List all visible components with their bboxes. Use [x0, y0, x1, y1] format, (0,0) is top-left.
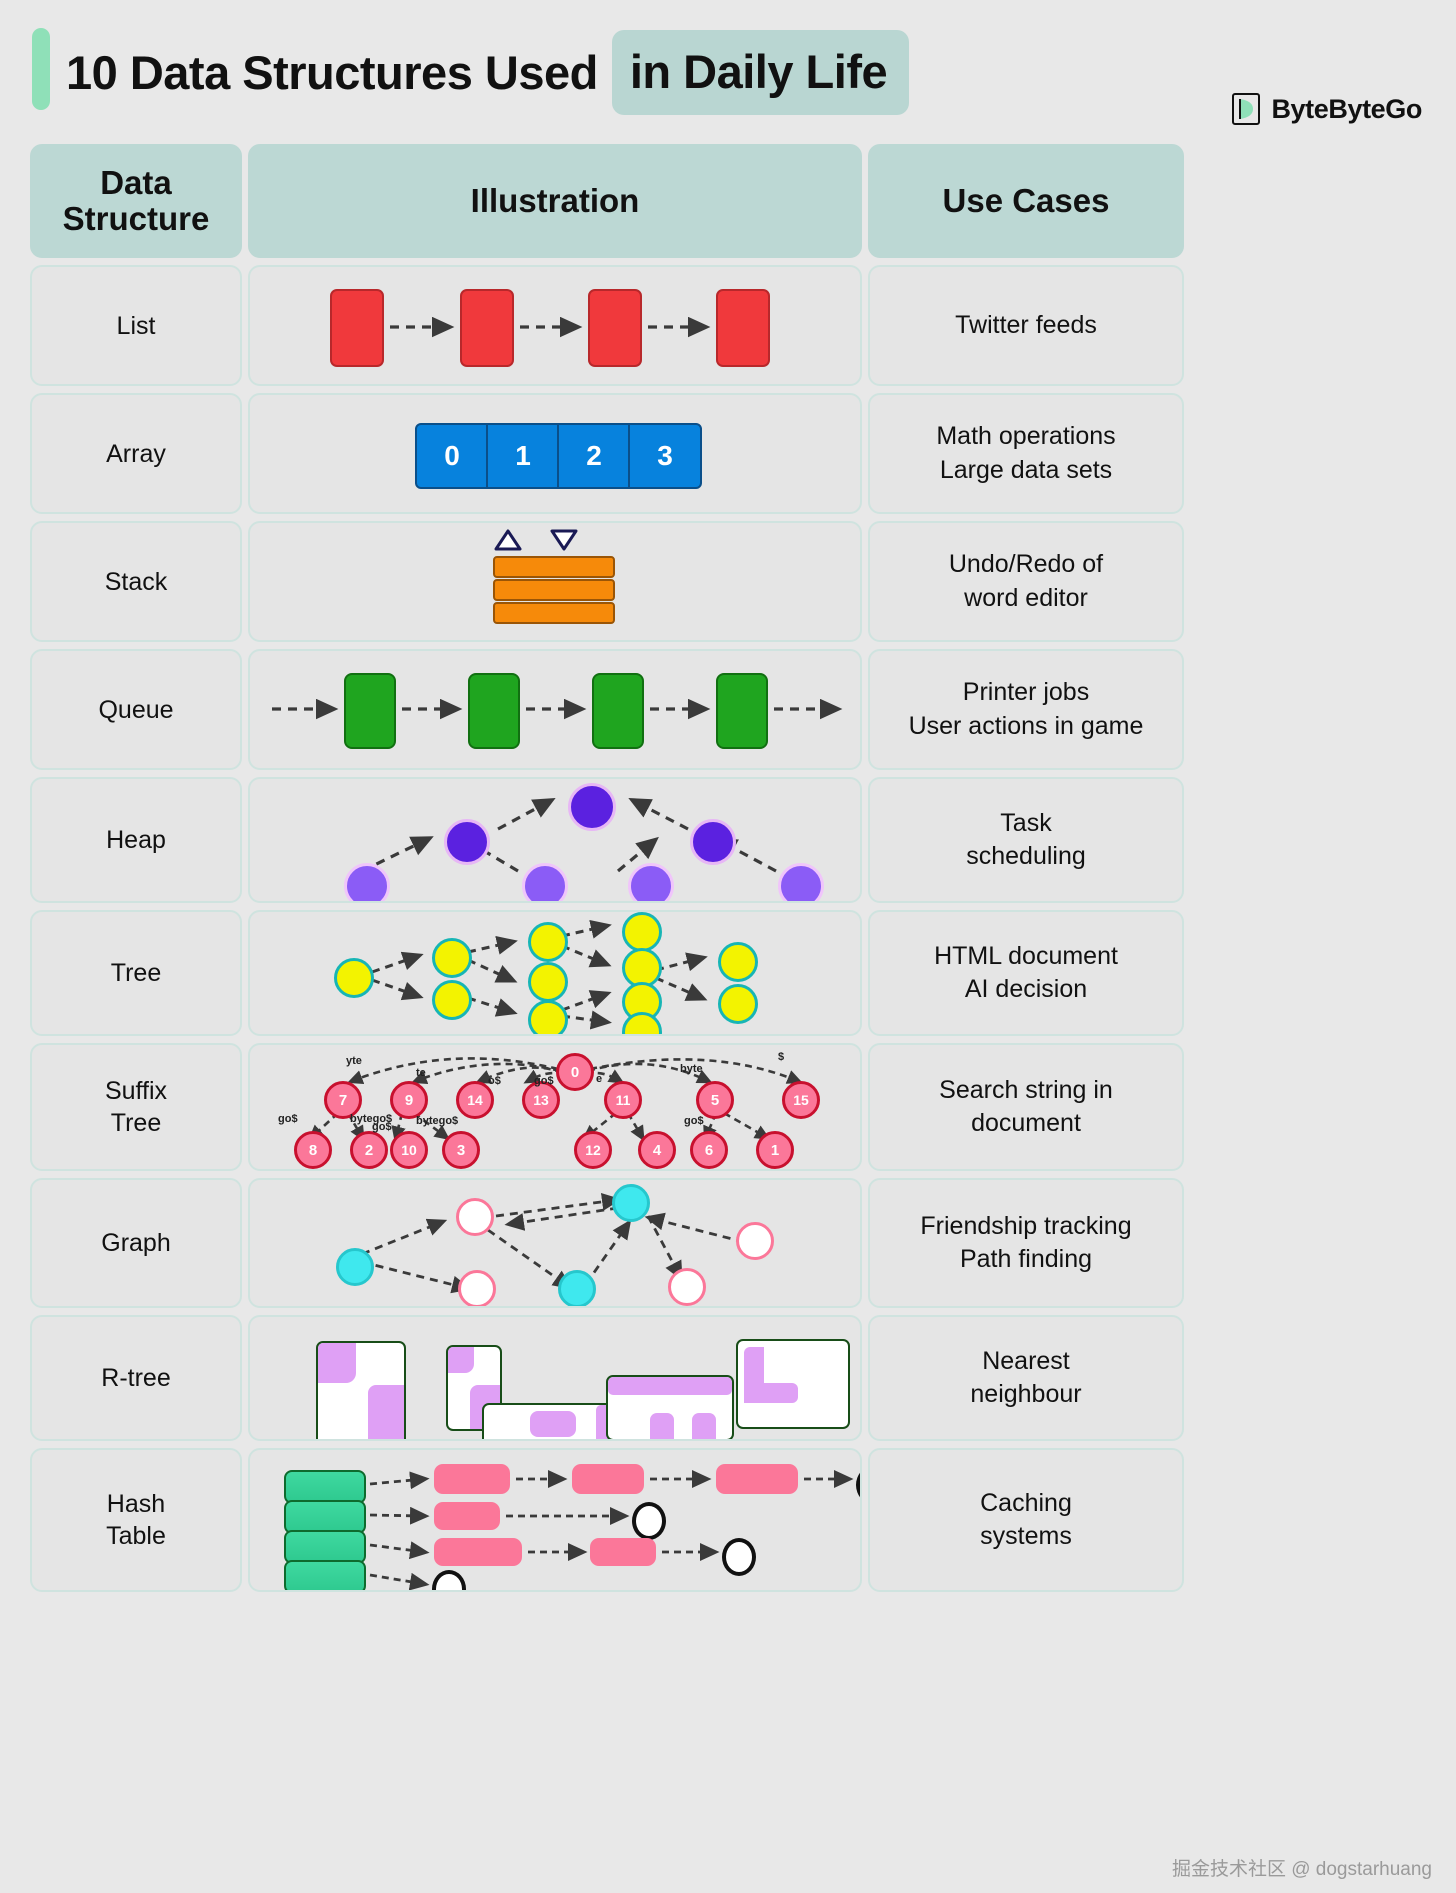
column-header-use-cases: Use Cases [868, 144, 1184, 258]
row-label-heap: Heap [30, 777, 242, 903]
table-row-list: List Twitter [30, 265, 1176, 386]
graph-node [336, 1248, 374, 1286]
list-arrows [250, 267, 860, 384]
table-row-hash-table: Hash Table [30, 1448, 1176, 1592]
suffix-edge-label: go$ [684, 1115, 704, 1127]
suffix-node: 4 [638, 1131, 676, 1169]
graph-node [668, 1268, 706, 1306]
page-title-highlight: in Daily Life [612, 30, 909, 115]
suffix-edge-label: byte [680, 1063, 703, 1075]
use-case-queue: Printer jobs User actions in game [868, 649, 1184, 770]
watermark-text: 掘金技术社区 @ dogstarhuang [1172, 1854, 1432, 1881]
suffix-node: 3 [442, 1131, 480, 1169]
illustration-graph [248, 1178, 862, 1308]
stack-layer [493, 579, 615, 601]
suffix-node: 10 [390, 1131, 428, 1169]
row-label-array: Array [30, 393, 242, 514]
suffix-node: 6 [690, 1131, 728, 1169]
r-tree-box [482, 1403, 626, 1441]
tree-node [528, 962, 568, 1002]
suffix-edge-label: e [596, 1073, 602, 1085]
page-title: 10 Data Structures Used in Daily Life [66, 30, 909, 115]
array-cell: 0 [415, 423, 489, 489]
graph-node [612, 1184, 650, 1222]
use-case-graph: Friendship tracking Path finding [868, 1178, 1184, 1308]
page-title-main: 10 Data Structures Used [66, 49, 612, 96]
illustration-heap [248, 777, 862, 903]
illustration-array: 0 1 2 3 [248, 393, 862, 514]
array-cell: 2 [557, 423, 631, 489]
suffix-edge-label: go$ [278, 1113, 298, 1125]
suffix-edge-label: go$ [534, 1075, 554, 1087]
r-tree-box [606, 1375, 734, 1441]
title-accent-bar [32, 28, 50, 110]
r-tree-box [316, 1341, 406, 1441]
row-label-graph: Graph [30, 1178, 242, 1308]
use-case-r-tree: Nearest neighbour [868, 1315, 1184, 1441]
heap-node-root [568, 783, 616, 831]
heap-node [344, 863, 390, 903]
row-label-queue: Queue [30, 649, 242, 770]
suffix-node: 1 [756, 1131, 794, 1169]
suffix-edge-label: bytego$ [416, 1115, 458, 1127]
suffix-node: 2 [350, 1131, 388, 1169]
use-case-array: Math operations Large data sets [868, 393, 1184, 514]
use-case-hash-table: Caching systems [868, 1448, 1184, 1592]
graph-node [456, 1198, 494, 1236]
row-label-tree: Tree [30, 910, 242, 1036]
table-row-suffix-tree: Suffix Tree [30, 1043, 1176, 1171]
row-label-hash-table: Hash Table [30, 1448, 242, 1592]
table-row-array: Array 0 1 2 3 Math operations Large data… [30, 393, 1176, 514]
array-cell: 3 [628, 423, 702, 489]
suffix-edge-label: o$ [488, 1075, 501, 1087]
illustration-queue [248, 649, 862, 770]
heap-node [628, 863, 674, 903]
use-case-stack: Undo/Redo of word editor [868, 521, 1184, 642]
table-row-graph: Graph [30, 1178, 1176, 1308]
hash-arrows [250, 1450, 860, 1590]
illustration-tree [248, 910, 862, 1036]
heap-node [522, 863, 568, 903]
array-cell: 1 [486, 423, 560, 489]
column-header-illustration: Illustration [248, 144, 862, 258]
suffix-edge-label: go$ [372, 1121, 392, 1133]
suffix-node: 5 [696, 1081, 734, 1119]
use-case-list: Twitter feeds [868, 265, 1184, 386]
graph-node [736, 1222, 774, 1260]
illustration-list [248, 265, 862, 386]
table-header-row: Data Structure Illustration Use Cases [30, 144, 1176, 258]
tree-node [718, 942, 758, 982]
stack-layer [493, 556, 615, 578]
use-case-tree: HTML document AI decision [868, 910, 1184, 1036]
row-label-list: List [30, 265, 242, 386]
queue-arrows [250, 651, 860, 768]
tree-node [528, 1000, 568, 1036]
bytebytego-logo-icon [1231, 92, 1261, 126]
table-row-heap: Heap [30, 777, 1176, 903]
suffix-node: 11 [604, 1081, 642, 1119]
suffix-node: 12 [574, 1131, 612, 1169]
graph-node [558, 1270, 596, 1308]
use-case-heap: Task scheduling [868, 777, 1184, 903]
illustration-hash-table [248, 1448, 862, 1592]
heap-node [444, 819, 490, 865]
page-header: 10 Data Structures Used in Daily Life By… [0, 0, 1456, 148]
suffix-node: 8 [294, 1131, 332, 1169]
brand-logo: ByteByteGo [1231, 92, 1422, 126]
tree-node [432, 980, 472, 1020]
heap-node [690, 819, 736, 865]
row-label-suffix-tree: Suffix Tree [30, 1043, 242, 1171]
heap-node [778, 863, 824, 903]
row-label-stack: Stack [30, 521, 242, 642]
use-case-suffix-tree: Search string in document [868, 1043, 1184, 1171]
suffix-edge-label: $ [778, 1051, 784, 1063]
table-row-r-tree: R-tree [30, 1315, 1176, 1441]
data-structures-table: Data Structure Illustration Use Cases Li… [30, 144, 1176, 1599]
r-tree-box [736, 1339, 850, 1429]
column-header-ds-line2: Structure [63, 201, 210, 237]
illustration-suffix-tree: 0 7 9 14 13 11 5 15 8 2 10 3 12 4 6 1 yt… [248, 1043, 862, 1171]
tree-node [622, 912, 662, 952]
graph-node [458, 1270, 496, 1308]
stack-layer [493, 602, 615, 624]
tree-node [528, 922, 568, 962]
table-row-stack: Stack Undo/Redo of word editor [30, 521, 1176, 642]
table-row-tree: Tree [30, 910, 1176, 1036]
tree-node [718, 984, 758, 1024]
brand-name: ByteByteGo [1271, 94, 1422, 125]
column-header-data-structure: Data Structure [30, 144, 242, 258]
tree-node [432, 938, 472, 978]
illustration-r-tree [248, 1315, 862, 1441]
row-label-r-tree: R-tree [30, 1315, 242, 1441]
suffix-edge-label: yte [346, 1055, 362, 1067]
suffix-node-root: 0 [556, 1053, 594, 1091]
suffix-edge-label: te [416, 1067, 426, 1079]
tree-node [334, 958, 374, 998]
suffix-node: 15 [782, 1081, 820, 1119]
column-header-ds-line1: Data [63, 165, 210, 201]
table-row-queue: Queue [30, 649, 1176, 770]
suffix-node: 9 [390, 1081, 428, 1119]
illustration-stack [248, 521, 862, 642]
